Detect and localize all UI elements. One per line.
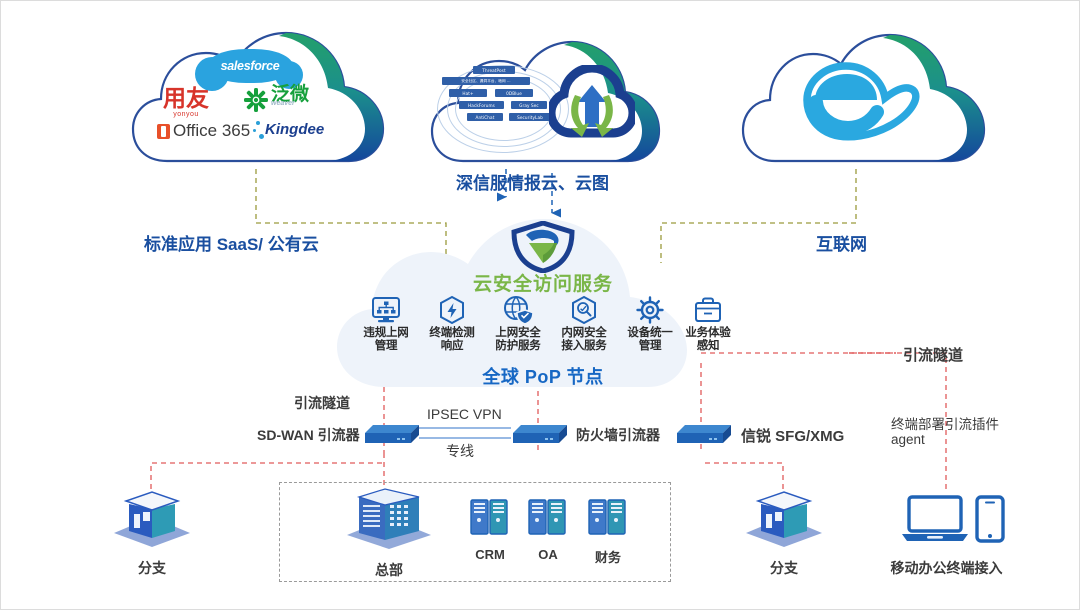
salesforce-label: salesforce [221, 59, 280, 73]
branch-right-caption: 分支 [741, 558, 827, 578]
server-icon [585, 497, 631, 539]
service-item-5[interactable]: 业务体验 感知 [677, 295, 739, 353]
server-crm: CRM [467, 497, 513, 562]
branch-building-icon [741, 487, 827, 549]
saas-cloud: salesforce 用友 yonyou 泛微 weaver [129, 29, 389, 171]
cloud-security-service-cloud: 云安全访问服务 违规上网 管理 [333, 219, 753, 389]
intel-cloud: ThreatPost 安全社区、漏洞平台、暗网 ... Hat+ 0DBlue … [429, 39, 661, 171]
service-label2: 接入服务 [561, 340, 606, 352]
site-mobile-terminals: 移动办公终端接入 [874, 493, 1019, 578]
salesforce-logo: salesforce [207, 49, 293, 83]
service-item-2[interactable]: 上网安全 防护服务 [487, 295, 549, 353]
server-label: OA [525, 547, 571, 562]
branch-building-icon [109, 487, 195, 549]
service-label: 内网安全 [561, 327, 606, 339]
server-label: 财务 [585, 547, 631, 566]
intel-tag: ThreatPost [473, 66, 515, 74]
yonyou-sub: yonyou [163, 111, 209, 118]
intel-tag: AntiChat [467, 113, 503, 121]
saas-cloud-caption: 标准应用 SaaS/ 公有云 [144, 230, 319, 255]
sfg-device-icon [673, 419, 735, 447]
gear-icon [619, 295, 681, 325]
intel-tag: Gray Sec [511, 101, 547, 109]
intel-tag: 安全社区、漏洞平台、暗网 ... [442, 77, 530, 85]
sdwan-label: SD-WAN 引流器 [257, 425, 360, 445]
global-pop-label: 全球 PoP 节点 [333, 363, 753, 389]
blob-decoration [455, 77, 553, 141]
hexagon-search-icon [553, 295, 615, 325]
intel-tag: HackForums [459, 101, 504, 109]
laptop-phone-icon [899, 493, 1011, 549]
globe-shield-icon [487, 295, 549, 325]
service-label: 设备统一 [627, 327, 672, 339]
agent-note-line2: agent [891, 432, 925, 447]
server-finance: 财务 [585, 497, 631, 566]
legend-tunnel-label: 引流隧道 [903, 344, 963, 365]
ipsec-vpn-label: IPSEC VPN [427, 406, 502, 422]
service-label2: 响应 [441, 340, 464, 352]
service-item-0[interactable]: 违规上网 管理 [355, 295, 417, 353]
intel-tag: SecurityLab [509, 113, 551, 121]
cloud-upload-icon [549, 65, 635, 143]
service-item-1[interactable]: 终端检测 响应 [421, 295, 483, 353]
firewall-label: 防火墙引流器 [576, 425, 660, 445]
branch-left-caption: 分支 [109, 558, 195, 578]
office-icon [157, 124, 170, 139]
yonyou-label: 用友 [163, 87, 209, 111]
office365-logo: Office 365 [157, 121, 250, 141]
site-branch-left: 分支 [109, 487, 195, 578]
site-branch-right: 分支 [741, 487, 827, 578]
agent-note-line1: 终端部署引流插件 [891, 413, 999, 433]
dedicated-line-label: 专线 [446, 441, 474, 461]
weaver-logo: 泛微 weaver [245, 85, 309, 107]
service-label2: 管理 [375, 340, 398, 352]
service-label: 业务体验 [685, 327, 730, 339]
service-label: 上网安全 [495, 327, 540, 339]
kingdee-logo: Kingdee [265, 121, 324, 138]
service-label2: 防护服务 [495, 340, 540, 352]
service-item-3[interactable]: 内网安全 接入服务 [553, 295, 615, 353]
sdwan-device-icon [361, 419, 423, 447]
briefcase-icon [677, 295, 739, 325]
diagram-canvas: salesforce 用友 yonyou 泛微 weaver [0, 0, 1080, 610]
site-hq: 总部 [341, 485, 437, 580]
tunnel-label-left: 引流隧道 [294, 393, 350, 413]
hexagon-bolt-icon [421, 295, 483, 325]
server-icon [525, 497, 571, 539]
hq-building-icon [341, 485, 437, 551]
office365-label: Office 365 [173, 121, 250, 140]
service-label: 违规上网 [363, 327, 408, 339]
service-item-4[interactable]: 设备统一 管理 [619, 295, 681, 353]
yonyou-logo: 用友 yonyou [163, 87, 209, 118]
server-oa: OA [525, 497, 571, 562]
service-cloud-title: 云安全访问服务 [333, 269, 753, 296]
kingdee-label: Kingdee [265, 121, 324, 138]
firewall-device-icon [509, 419, 571, 447]
service-label2: 感知 [697, 340, 720, 352]
intel-tag: Hat+ [449, 89, 487, 97]
sfg-label: 信锐 SFG/XMG [741, 425, 844, 446]
monitor-network-icon [355, 295, 417, 325]
server-icon [467, 497, 513, 539]
service-label2: 管理 [639, 340, 662, 352]
intel-tag: 0DBlue [495, 89, 533, 97]
sangfor-shield-logo [508, 221, 578, 273]
server-label: CRM [467, 547, 513, 562]
internet-cloud-caption: 互联网 [816, 230, 867, 255]
internet-cloud [739, 31, 989, 171]
service-label: 终端检测 [429, 327, 474, 339]
intel-cloud-caption: 深信服情报云、云图 [456, 169, 609, 194]
mobile-caption: 移动办公终端接入 [874, 558, 1019, 578]
hq-caption: 总部 [341, 560, 437, 580]
